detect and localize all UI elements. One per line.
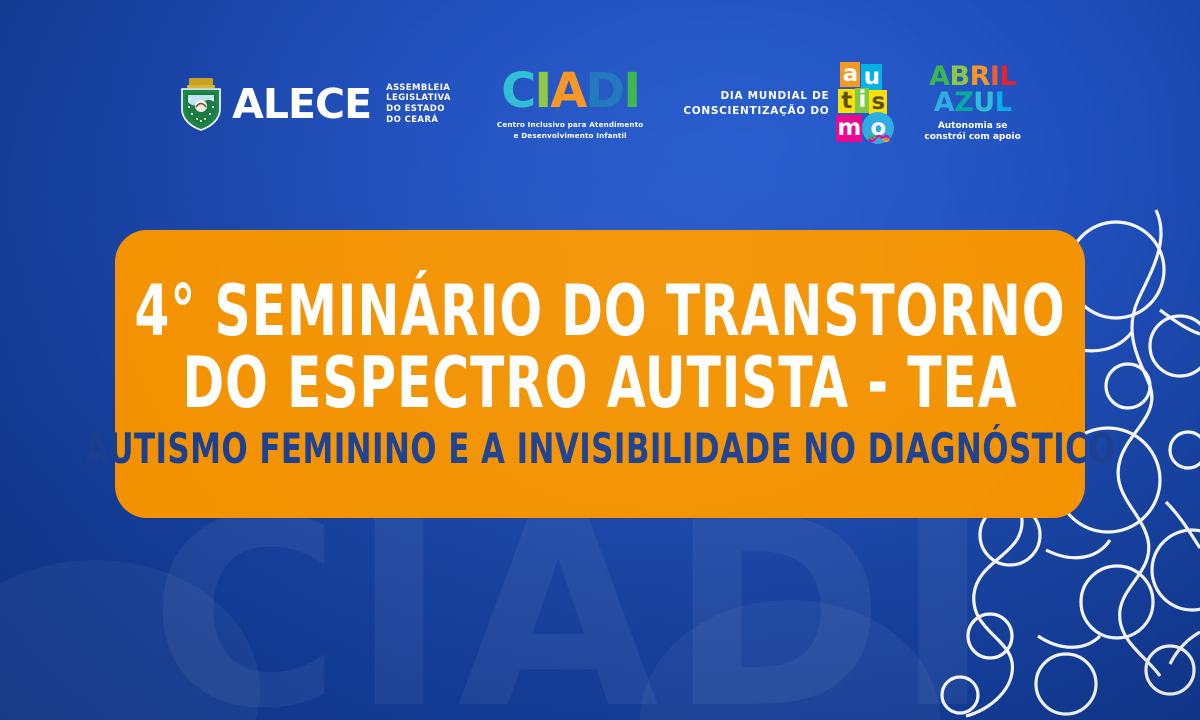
ceara-coat-of-arms-icon <box>179 77 223 131</box>
autismo-tile-m: m <box>836 115 862 142</box>
ciadi-subtitle: Centro Inclusivo para Atendimento e Dese… <box>497 120 643 141</box>
logo-bar: ALECE ASSEMBLEIA LEGISLATIVA DO ESTADO D… <box>0 58 1200 150</box>
ciadi-letter-i2: I <box>623 67 639 115</box>
abril-letter-b: B <box>949 64 969 90</box>
abril-azul-tagline: Autonomia se constrói com apoio <box>924 121 1020 144</box>
azul-letter-z: Z <box>954 90 973 116</box>
abril-letter-r: R <box>970 64 990 90</box>
seminar-subtitle: AUTISMO FEMININO E A INVISIBILIDADE NO D… <box>85 427 1115 471</box>
ciadi-subtitle-line-1: Centro Inclusivo para Atendimento <box>497 120 643 130</box>
autismo-tile-s: s <box>869 90 887 114</box>
alece-subtitle-line-4: DO CEARÁ <box>386 115 451 126</box>
seminar-title-line-2: DO ESPECTRO AUTISTA - TEA <box>182 348 1017 419</box>
ciadi-wordmark: C I A D I <box>501 67 639 115</box>
abril-wordmark-line-1: A B R I L <box>929 64 1016 90</box>
abril-azul-tagline-line-1: Autonomia se <box>924 121 1020 133</box>
alece-subtitle: ASSEMBLEIA LEGISLATIVA DO ESTADO DO CEAR… <box>386 83 451 126</box>
alece-subtitle-line-2: LEGISLATIVA <box>386 93 451 104</box>
ciadi-subtitle-line-2: e Desenvolvimento Infantil <box>497 131 643 141</box>
azul-letter-u: U <box>973 90 994 116</box>
azul-letter-l: L <box>995 90 1012 116</box>
autismo-wordmark: a u t i s m o <box>836 62 898 146</box>
alece-logo: ALECE ASSEMBLEIA LEGISLATIVA DO ESTADO D… <box>179 77 451 131</box>
ciadi-letter-c: C <box>501 67 534 115</box>
abril-azul-tagline-line-2: constrói com apoio <box>924 132 1020 144</box>
autismo-tile-i: i <box>855 88 869 113</box>
title-panel: 4° SEMINÁRIO DO TRANSTORNO DO ESPECTRO A… <box>115 230 1085 518</box>
abril-letter-a: A <box>929 64 949 90</box>
abril-letter-i: I <box>990 64 1000 90</box>
dia-mundial-text: DIA MUNDIAL DE CONSCIENTIZAÇÃO DO <box>683 89 829 119</box>
dia-mundial-line-2: CONSCIENTIZAÇÃO DO <box>683 104 829 119</box>
alece-subtitle-line-1: ASSEMBLEIA <box>386 83 451 94</box>
infinity-symbol-icon <box>866 132 892 145</box>
alece-subtitle-line-3: DO ESTADO <box>386 104 451 115</box>
ciadi-logo: C I A D I Centro Inclusivo para Atendime… <box>497 67 643 141</box>
abril-letter-l: L <box>999 64 1016 90</box>
azul-letter-a: A <box>934 90 954 116</box>
ciadi-letter-a: A <box>550 67 585 115</box>
abril-azul-logo: A B R I L A Z U L Autonomia se constrói … <box>924 64 1020 144</box>
alece-wordmark: ALECE <box>232 84 371 125</box>
dia-mundial-line-1: DIA MUNDIAL DE <box>683 89 829 104</box>
ciadi-letter-i1: I <box>534 67 550 115</box>
ciadi-letter-d: D <box>585 67 623 115</box>
poster-canvas: CIADI <box>0 0 1200 720</box>
autismo-tile-a: a <box>840 62 860 87</box>
autismo-tile-t: t <box>838 89 855 113</box>
seminar-title-line-1: 4° SEMINÁRIO DO TRANSTORNO <box>135 277 1066 346</box>
abril-wordmark-line-2: A Z U L <box>934 90 1012 116</box>
dia-mundial-autismo-logo: DIA MUNDIAL DE CONSCIENTIZAÇÃO DO a u t … <box>683 62 898 146</box>
